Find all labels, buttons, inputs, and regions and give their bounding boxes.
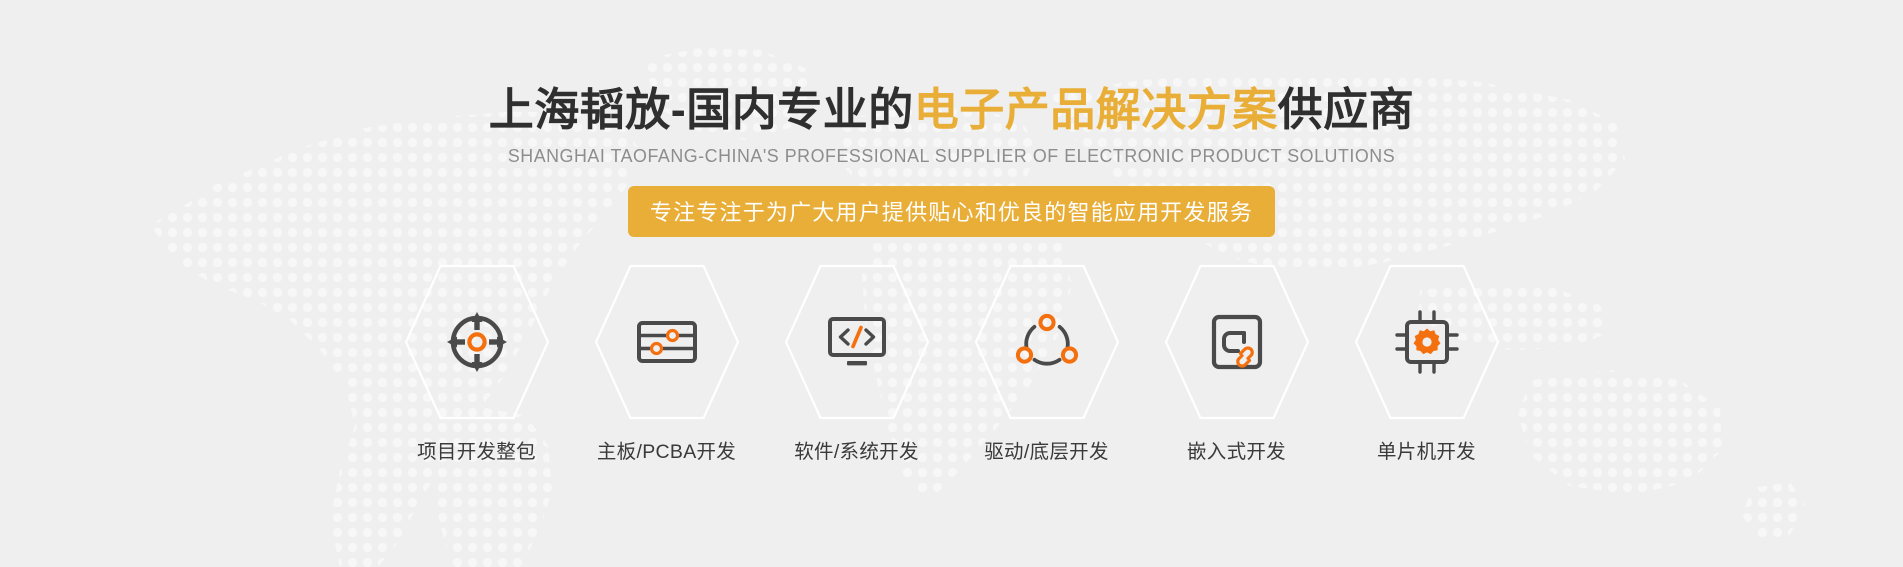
hero-banner: 上海韬放-国内专业的电子产品解决方案供应商 SHANGHAI TAOFANG-C… (0, 0, 1903, 567)
feature-label: 主板/PCBA开发 (597, 435, 736, 464)
page-subtitle: SHANGHAI TAOFANG-CHINA'S PROFESSIONAL SU… (33, 145, 1869, 167)
feature-item-embedded[interactable]: 嵌入式开发 (1142, 262, 1332, 464)
feature-item-software[interactable]: 软件/系统开发 (762, 262, 952, 464)
monitor-code-icon (824, 309, 890, 375)
page-title-tail: 供应商 (1278, 84, 1415, 135)
embedded-chip-link-icon (1204, 309, 1270, 375)
feature-label: 软件/系统开发 (794, 435, 919, 464)
feature-label: 嵌入式开发 (1187, 435, 1286, 464)
tagline-badge: 专注专注于为广大用户提供贴心和优良的智能应用开发服务 (628, 186, 1275, 237)
feature-item-mcu[interactable]: 单片机开发 (1332, 262, 1522, 464)
pcb-board-icon (634, 309, 700, 375)
microcontroller-gear-icon (1394, 309, 1460, 375)
hexagon-frame-4 (974, 262, 1120, 422)
hexagon-frame-1 (404, 262, 550, 422)
feature-label: 驱动/底层开发 (984, 435, 1109, 464)
feature-item-pcba[interactable]: 主板/PCBA开发 (572, 262, 762, 464)
headline-block: 上海韬放-国内专业的电子产品解决方案供应商 SHANGHAI TAOFANG-C… (0, 86, 1903, 237)
hexagon-frame-6 (1354, 262, 1500, 422)
crosshair-target-icon (444, 309, 510, 375)
feature-item-project-package[interactable]: 项目开发整包 (382, 262, 572, 464)
feature-item-driver[interactable]: 驱动/底层开发 (952, 262, 1142, 464)
page-title-lead: 上海韬放-国内专业的 (489, 84, 914, 135)
feature-label: 单片机开发 (1377, 435, 1476, 464)
page-title: 上海韬放-国内专业的电子产品解决方案供应商 (0, 86, 1903, 134)
feature-label: 项目开发整包 (417, 435, 536, 464)
tagline-wrap: 专注专注于为广大用户提供贴心和优良的智能应用开发服务 (0, 186, 1903, 237)
hexagon-frame-3 (784, 262, 930, 422)
feature-list: 项目开发整包 (382, 262, 1522, 464)
hexagon-frame-5 (1164, 262, 1310, 422)
node-network-icon (1014, 309, 1080, 375)
page-title-accent: 电子产品解决方案 (914, 84, 1278, 135)
hexagon-frame-2 (594, 262, 740, 422)
